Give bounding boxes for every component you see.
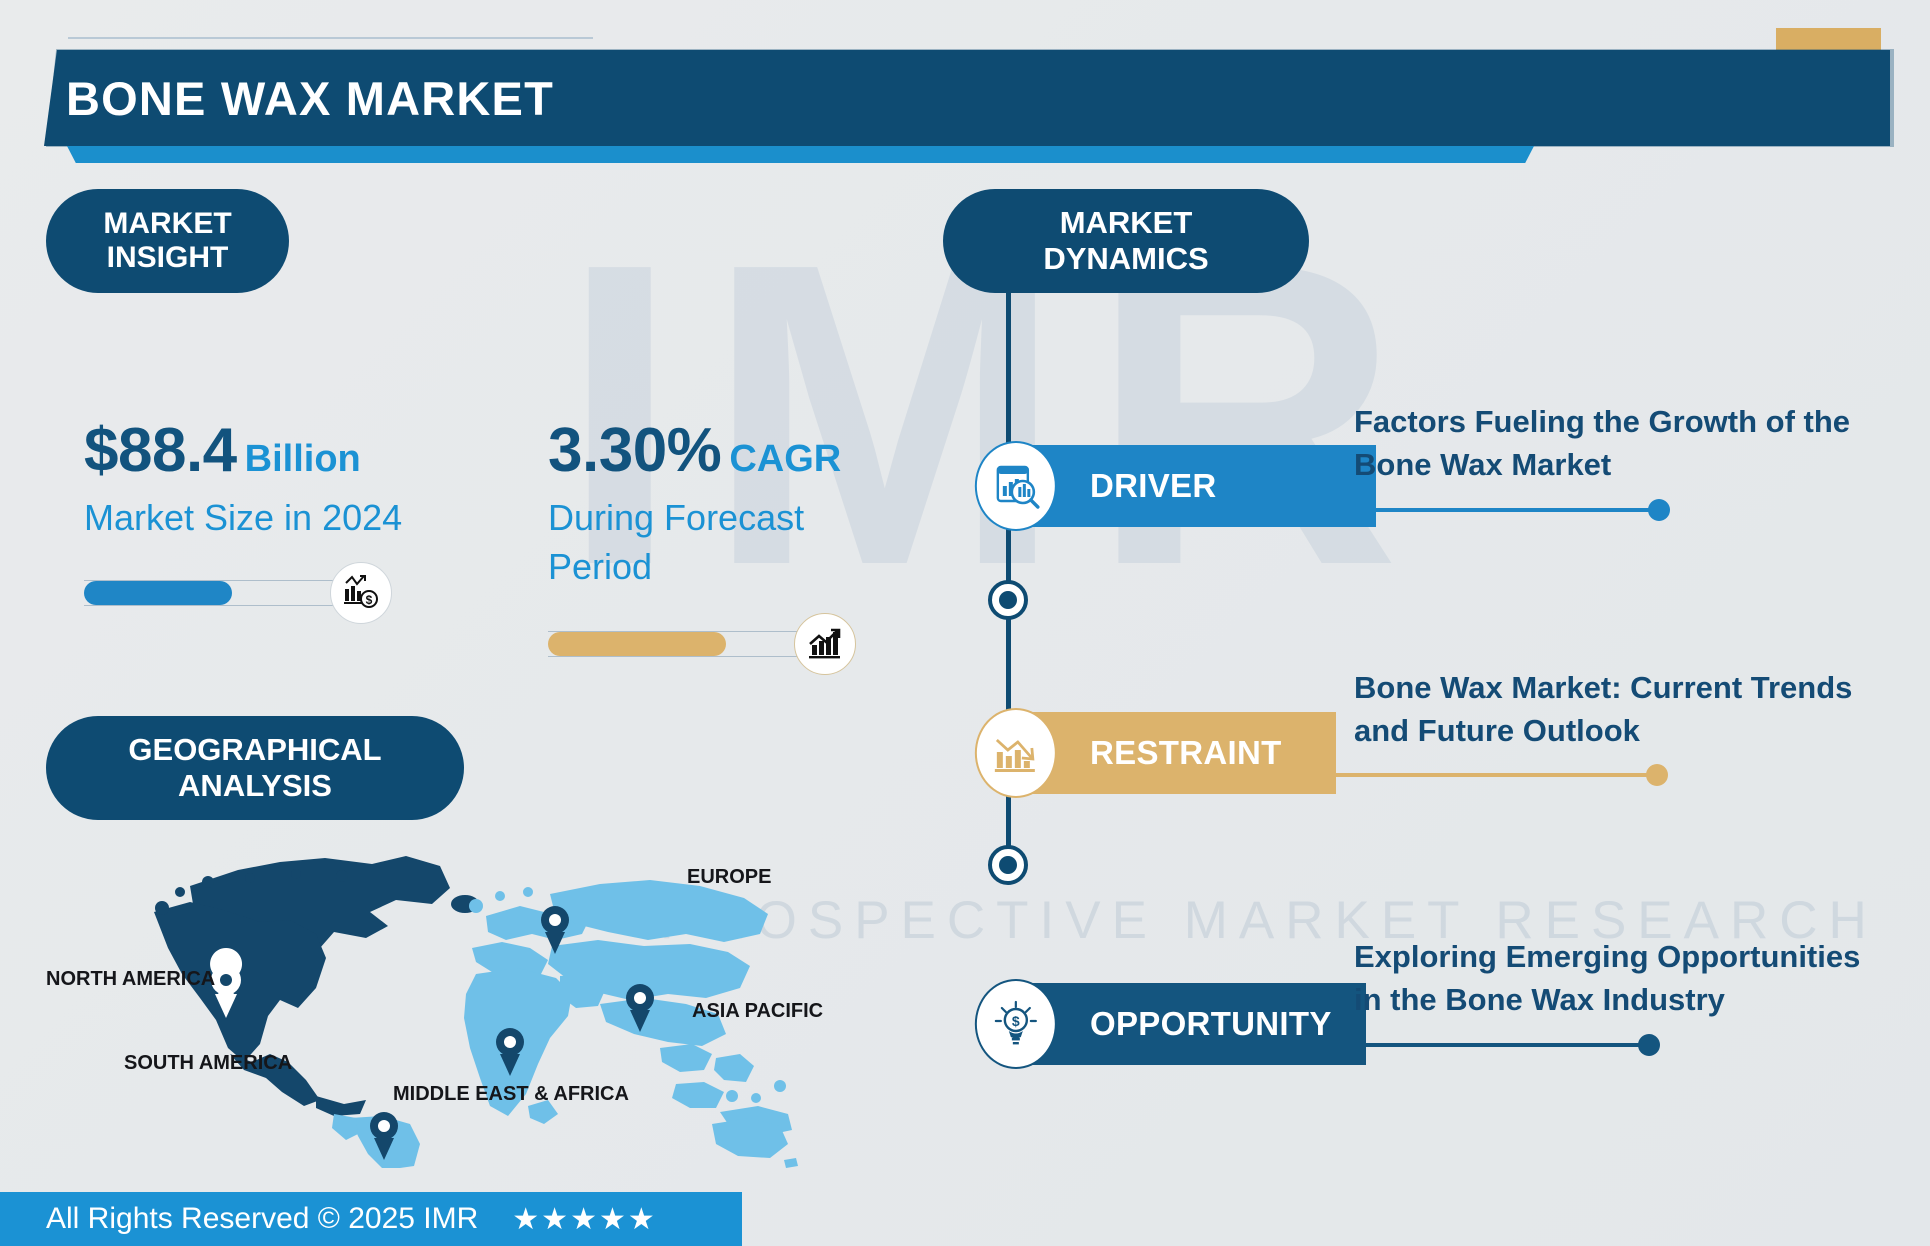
- cagr-progress-fill: [548, 632, 726, 656]
- cagr-unit: CAGR: [729, 438, 841, 481]
- restraint-connector: [1336, 773, 1654, 777]
- market-dynamics-pill-line1: MARKET: [1060, 205, 1193, 241]
- restraint-label: RESTRAINT: [1090, 734, 1282, 772]
- footer-copyright: All Rights Reserved © 2025 IMR: [46, 1202, 478, 1236]
- growth-arrow-icon: [794, 613, 856, 675]
- driver-description: Factors Fueling the Growth of the Bone W…: [1354, 400, 1850, 487]
- market-size-progress: $: [84, 562, 392, 624]
- driver-connector: [1376, 508, 1656, 512]
- declining-bar-chart-icon: [975, 708, 1057, 798]
- bar-chart-dollar-icon: $: [330, 562, 392, 624]
- geographical-analysis-pill: GEOGRAPHICAL ANALYSIS: [46, 716, 464, 820]
- top-divider-line: [68, 37, 593, 39]
- opportunity-description-line2: in the Bone Wax Industry: [1354, 978, 1860, 1021]
- driver-description-line1: Factors Fueling the Growth of the: [1354, 400, 1850, 443]
- driver-bar[interactable]: DRIVER: [1006, 445, 1376, 527]
- map-label-europe: EUROPE: [687, 866, 771, 889]
- restraint-description-line2: and Future Outlook: [1354, 709, 1852, 752]
- restraint-description: Bone Wax Market: Current Trends and Futu…: [1354, 666, 1852, 753]
- cagr-stat: 3.30% CAGR During Forecast Period: [548, 415, 878, 591]
- restraint-connector-dot: [1646, 764, 1668, 786]
- driver-label: DRIVER: [1090, 467, 1217, 505]
- opportunity-connector: [1366, 1043, 1646, 1047]
- map-label-asia-pacific: ASIA PACIFIC: [692, 1000, 823, 1023]
- footer-bar: All Rights Reserved © 2025 IMR ★★★★★: [0, 1192, 742, 1246]
- market-dynamics-pill: MARKET DYNAMICS: [943, 189, 1309, 293]
- cagr-progress-track: [548, 631, 818, 657]
- geo-pill-line1: GEOGRAPHICAL: [128, 732, 381, 768]
- infographic-canvas: IMR PROSPECTIVE MARKET RESEARCH BONE WAX…: [0, 0, 1930, 1246]
- restraint-bar[interactable]: RESTRAINT: [1006, 712, 1336, 794]
- lightbulb-dollar-icon: $: [975, 979, 1057, 1069]
- cagr-value: 3.30%: [548, 415, 721, 486]
- map-label-south-america: SOUTH AMERICA: [124, 1052, 292, 1075]
- svg-text:$: $: [1012, 1013, 1020, 1029]
- title-accent-bar: [67, 146, 1534, 163]
- market-size-progress-fill: [84, 581, 232, 605]
- page-title: BONE WAX MARKET: [66, 71, 554, 126]
- market-insight-pill-line2: INSIGHT: [107, 241, 229, 276]
- market-size-unit: Billion: [245, 438, 361, 481]
- market-insight-pill-line1: MARKET: [103, 207, 231, 242]
- geo-pill-line2: ANALYSIS: [178, 768, 332, 804]
- market-insight-pill: MARKET INSIGHT: [46, 189, 289, 293]
- market-size-progress-track: [84, 580, 354, 606]
- gold-corner-accent: [1776, 28, 1881, 50]
- document-magnifier-icon: [975, 441, 1057, 531]
- market-size-value: $88.4: [84, 415, 237, 486]
- cagr-caption: During Forecast Period: [548, 494, 878, 591]
- map-label-north-america: NORTH AMERICA: [46, 968, 215, 991]
- timeline-node-2: [988, 845, 1028, 885]
- driver-connector-dot: [1648, 499, 1670, 521]
- title-banner: BONE WAX MARKET: [44, 50, 1890, 146]
- market-size-caption: Market Size in 2024: [84, 494, 402, 543]
- market-size-stat: $88.4 Billion Market Size in 2024: [84, 415, 402, 543]
- driver-description-line2: Bone Wax Market: [1354, 443, 1850, 486]
- footer-star-rating: ★★★★★: [512, 1202, 656, 1237]
- opportunity-bar[interactable]: $ OPPORTUNITY: [1006, 983, 1366, 1065]
- svg-text:$: $: [366, 593, 373, 607]
- map-label-middle-east-africa: MIDDLE EAST & AFRICA: [393, 1083, 629, 1106]
- cagr-progress: [548, 613, 856, 675]
- opportunity-description: Exploring Emerging Opportunities in the …: [1354, 935, 1860, 1022]
- timeline-node-1: [988, 580, 1028, 620]
- progress-rail-bottom: [548, 656, 818, 657]
- opportunity-connector-dot: [1638, 1034, 1660, 1056]
- progress-rail-bottom: [84, 605, 354, 606]
- restraint-description-line1: Bone Wax Market: Current Trends: [1354, 666, 1852, 709]
- opportunity-label: OPPORTUNITY: [1090, 1005, 1332, 1043]
- market-dynamics-pill-line2: DYNAMICS: [1043, 241, 1208, 277]
- opportunity-description-line1: Exploring Emerging Opportunities: [1354, 935, 1860, 978]
